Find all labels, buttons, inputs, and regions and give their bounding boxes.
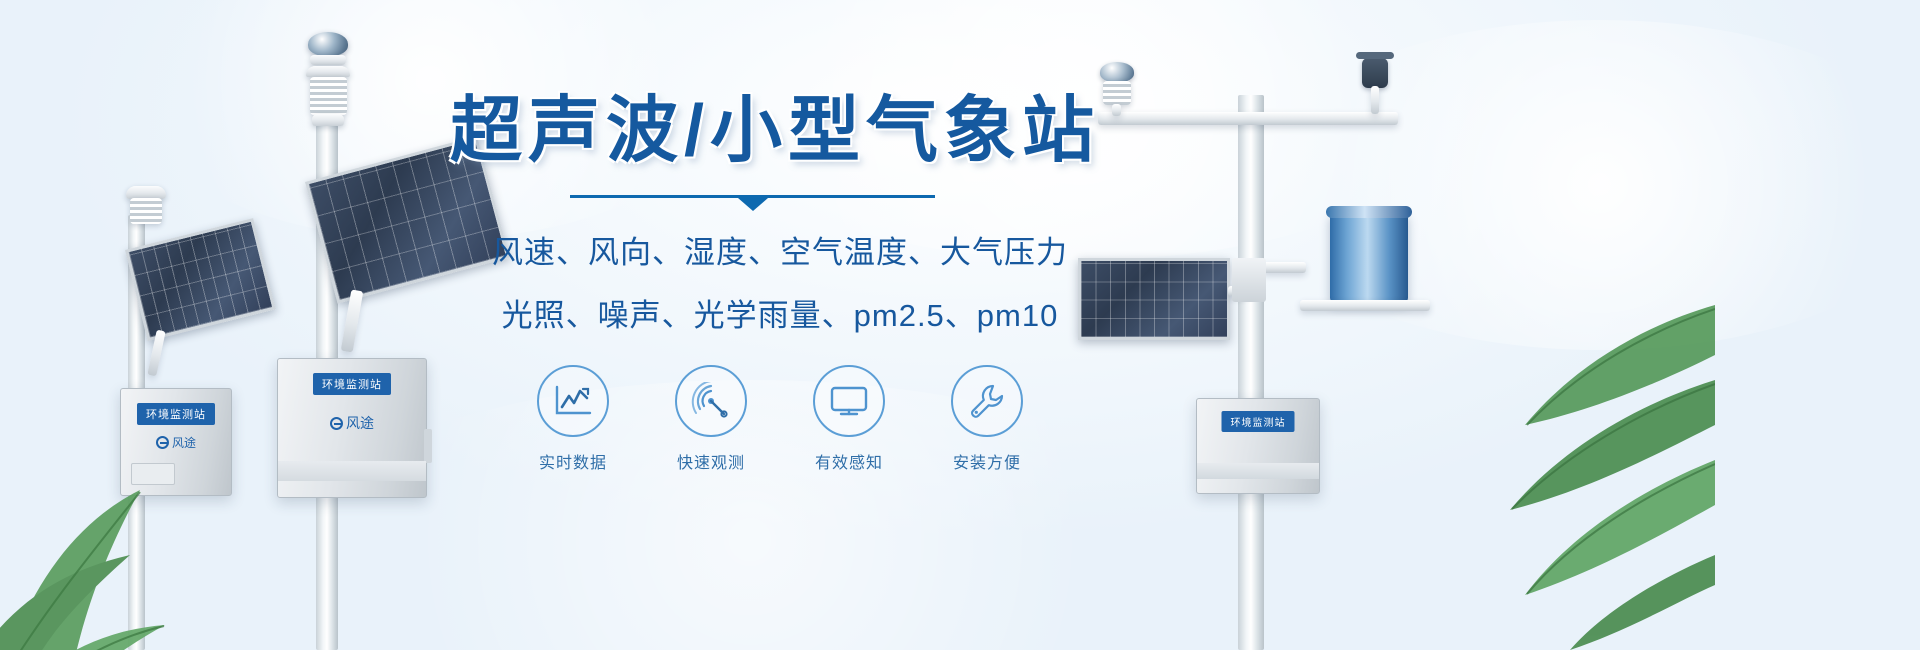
feature-label: 安装方便	[944, 449, 1030, 473]
brand-mark-icon	[330, 417, 343, 430]
solar-panel	[125, 218, 276, 341]
cabinet-tag: 环境监测站	[1222, 411, 1295, 432]
rain-gauge	[1330, 212, 1408, 302]
brand-mark-icon	[156, 436, 169, 449]
feature-item-easy-install[interactable]: 安装方便	[944, 365, 1030, 473]
cabinet-tag: 环境监测站	[313, 373, 391, 395]
sensor-stem	[1371, 86, 1379, 114]
wrench-icon	[951, 365, 1023, 437]
brand-name: 风途	[346, 413, 374, 433]
radiation-shield-cap	[306, 66, 350, 77]
equipment-cabinet: 环境监测站 风途	[277, 358, 427, 498]
cabinet-brand: 风途	[156, 434, 196, 451]
product-banner: 环境监测站 风途 环境监测站 风途	[0, 0, 1920, 650]
shelf-connector	[1262, 262, 1306, 273]
anemometer-cups	[1356, 52, 1394, 59]
ultrasonic-wind-sensor	[308, 32, 348, 56]
divider-triangle-icon	[738, 198, 768, 211]
cabinet-brand: 风途	[330, 413, 374, 433]
station-pole	[1238, 95, 1264, 650]
banner-content: 超声波/小型气象站 风速、风向、湿度、空气温度、大气压力 光照、噪声、光学雨量、…	[430, 95, 1130, 515]
sensor-base	[312, 114, 344, 126]
cross-arm	[1098, 112, 1398, 125]
title-divider	[570, 195, 935, 209]
pole-clamp	[1232, 258, 1266, 302]
feature-list: 实时数据 快速观测	[430, 365, 1130, 473]
monitor-icon	[813, 365, 885, 437]
radar-signal-icon	[675, 365, 747, 437]
cabinet-base-band	[278, 461, 426, 481]
feature-item-effective-sensing[interactable]: 有效感知	[806, 365, 892, 473]
equipment-cabinet: 环境监测站 风途	[120, 388, 232, 496]
feature-item-realtime-data[interactable]: 实时数据	[530, 365, 616, 473]
radiation-shield-fins	[310, 77, 347, 115]
gauge-shelf	[1300, 300, 1430, 311]
feature-label: 有效感知	[806, 449, 892, 473]
subtitle-line-2: 光照、噪声、光学雨量、pm2.5、pm10	[430, 290, 1130, 335]
palm-leaf-right	[1415, 285, 1715, 650]
feature-item-fast-observation[interactable]: 快速观测	[668, 365, 754, 473]
cabinet-vent	[131, 463, 175, 485]
rain-gauge-rim	[1326, 206, 1412, 218]
anemometer-head	[1362, 58, 1388, 88]
cabinet-base-band	[1197, 463, 1319, 479]
chart-line-icon	[537, 365, 609, 437]
feature-label: 快速观测	[668, 449, 754, 473]
ultrasonic-wind-sensor	[1100, 62, 1134, 82]
radiation-shield-fins	[130, 198, 162, 224]
brand-name: 风途	[172, 434, 196, 451]
subtitle-line-1: 风速、风向、湿度、空气温度、大气压力	[430, 227, 1130, 272]
feature-label: 实时数据	[530, 449, 616, 473]
equipment-cabinet: 环境监测站	[1196, 398, 1320, 494]
cabinet-tag: 环境监测站	[137, 403, 215, 425]
page-title: 超声波/小型气象站	[430, 95, 1130, 167]
sensor-collar	[310, 55, 346, 65]
